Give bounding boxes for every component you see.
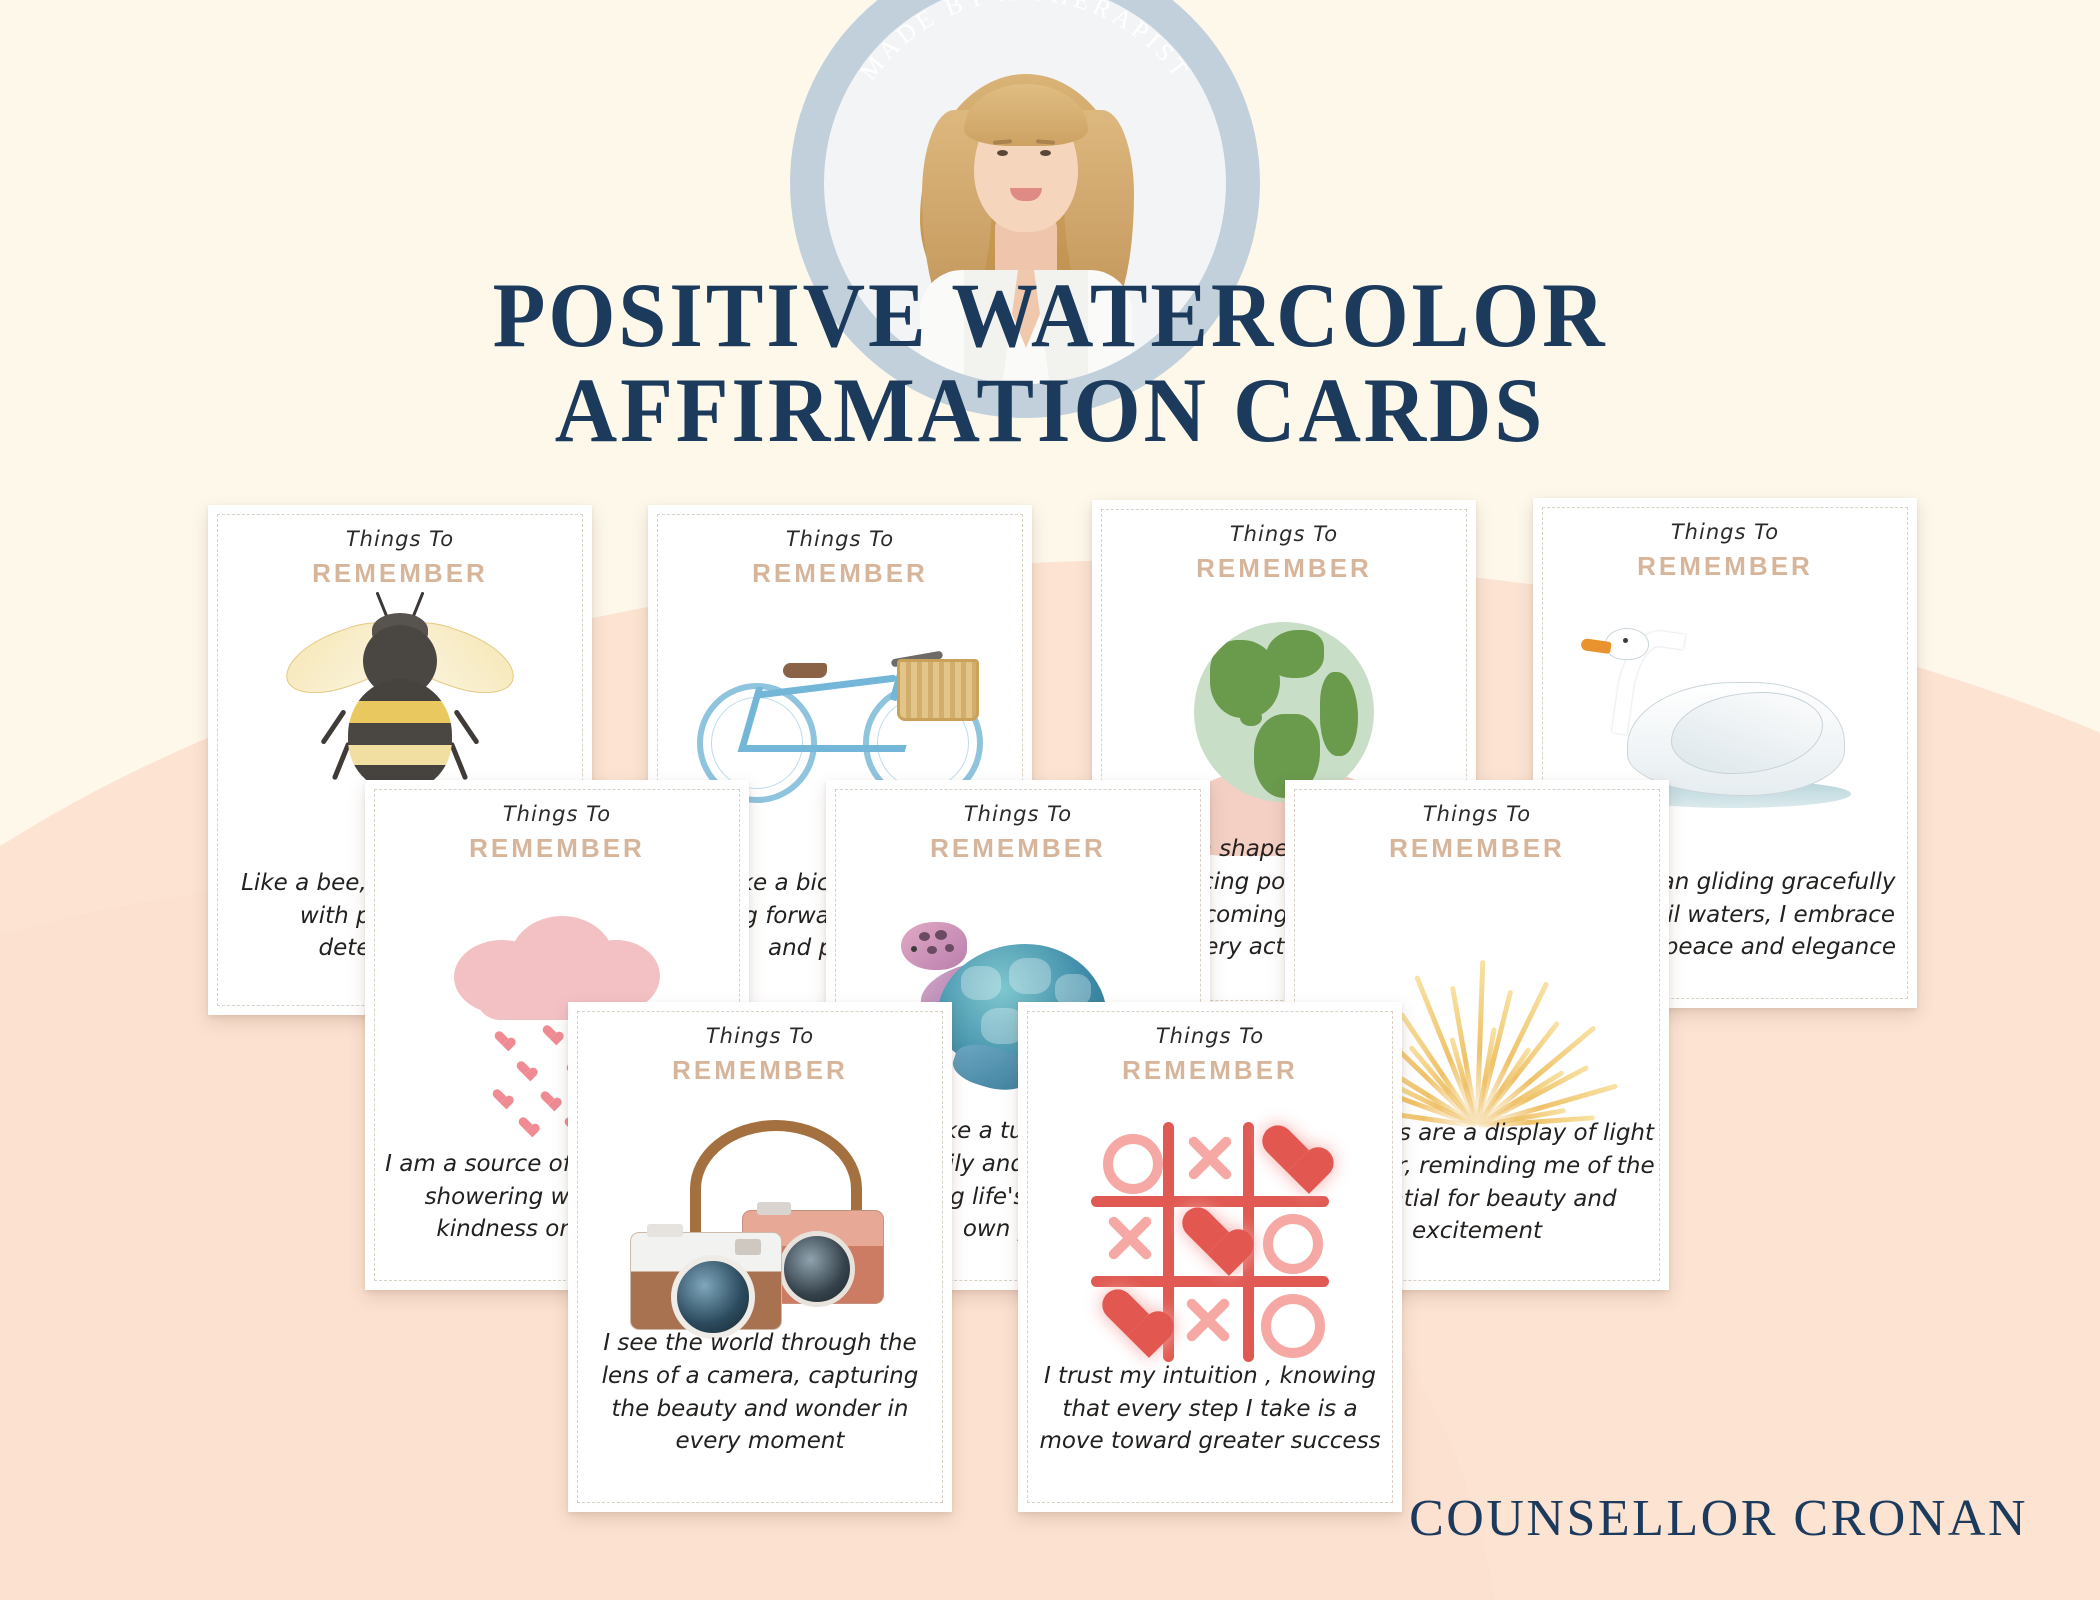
card-header: Things To REMEMBER bbox=[826, 802, 1210, 864]
card-header: Things To REMEMBER bbox=[568, 1024, 952, 1086]
title-line-2: AFFIRMATION CARDS bbox=[63, 363, 2037, 458]
card-header: Things To REMEMBER bbox=[1285, 802, 1669, 864]
card-camera[interactable]: Things To REMEMBER I see the world throu… bbox=[568, 1002, 952, 1512]
poster-canvas: MADE BY A THERAPIST POSITIVE WATERCOLOR … bbox=[0, 0, 2100, 1600]
card-eyebrow: Things To bbox=[1092, 522, 1476, 546]
card-header: Things To REMEMBER bbox=[208, 527, 592, 589]
page-title: POSITIVE WATERCOLOR AFFIRMATION CARDS bbox=[63, 268, 2037, 458]
card-quote: I see the world through the lens of a ca… bbox=[582, 1327, 938, 1458]
brand-signature: COUNSELLOR CRONAN bbox=[1409, 1489, 2028, 1548]
svg-text:MADE BY A THERAPIST: MADE BY A THERAPIST bbox=[855, 0, 1195, 86]
card-eyebrow: Things To bbox=[1533, 520, 1917, 544]
card-heading: REMEMBER bbox=[1092, 553, 1476, 584]
card-header: Things To REMEMBER bbox=[648, 527, 1032, 589]
card-eyebrow: Things To bbox=[1285, 802, 1669, 826]
card-heading: REMEMBER bbox=[648, 558, 1032, 589]
therapist-badge: MADE BY A THERAPIST bbox=[790, 0, 1260, 248]
card-eyebrow: Things To bbox=[648, 527, 1032, 551]
card-eyebrow: Things To bbox=[1018, 1024, 1402, 1048]
card-heading: REMEMBER bbox=[1018, 1055, 1402, 1086]
tic-tac-toe-icon bbox=[1018, 1102, 1402, 1352]
card-quote: I trust my intuition , knowing that ever… bbox=[1032, 1360, 1388, 1458]
card-heading: REMEMBER bbox=[1285, 833, 1669, 864]
card-header: Things To REMEMBER bbox=[1018, 1024, 1402, 1086]
card-header: Things To REMEMBER bbox=[365, 802, 749, 864]
card-header: Things To REMEMBER bbox=[1533, 520, 1917, 582]
card-heading: REMEMBER bbox=[208, 558, 592, 589]
badge-text: MADE BY A THERAPIST bbox=[855, 0, 1195, 86]
card-eyebrow: Things To bbox=[568, 1024, 952, 1048]
card-header: Things To REMEMBER bbox=[1092, 522, 1476, 584]
card-heading: REMEMBER bbox=[1533, 551, 1917, 582]
card-eyebrow: Things To bbox=[365, 802, 749, 826]
title-line-1: POSITIVE WATERCOLOR bbox=[493, 264, 1608, 366]
card-tic-tac-toe[interactable]: Things To REMEMBER I trust my intuition … bbox=[1018, 1002, 1402, 1512]
card-eyebrow: Things To bbox=[826, 802, 1210, 826]
camera-icon bbox=[568, 1098, 952, 1358]
card-heading: REMEMBER bbox=[568, 1055, 952, 1086]
card-eyebrow: Things To bbox=[208, 527, 592, 551]
card-heading: REMEMBER bbox=[826, 833, 1210, 864]
card-heading: REMEMBER bbox=[365, 833, 749, 864]
